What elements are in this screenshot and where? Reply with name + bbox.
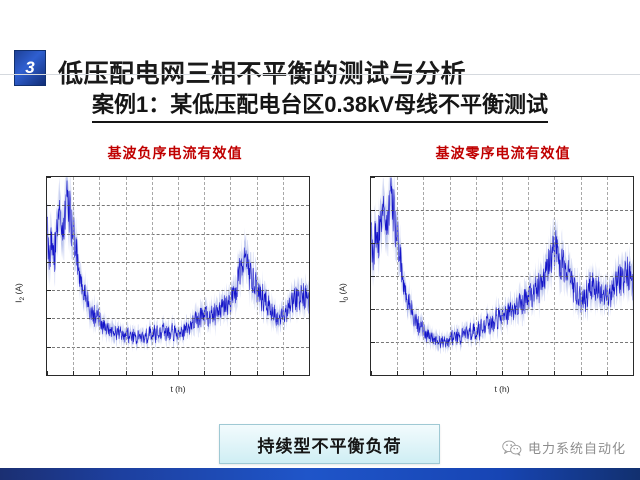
x-tick-mark [309, 371, 310, 375]
chart-panel-zero-sequence: I0 (A)I0 (A) 020406080100120024681012141… [332, 168, 640, 418]
section-number-badge: 3 [14, 50, 46, 86]
conclusion-caption: 持续型不平衡负荷 [219, 424, 440, 464]
y-tick-mark [371, 342, 375, 343]
y-tick-mark [371, 375, 375, 376]
gridline-vertical [397, 177, 398, 375]
gridline-vertical [554, 177, 555, 375]
x-tick-mark [554, 371, 555, 375]
slide: 3 低压配电网三相不平衡的测试与分析 案例1：某低压配电台区0.38kV母线不平… [0, 0, 640, 480]
wechat-icon [502, 440, 522, 456]
x-tick-mark [423, 371, 424, 375]
x-tick-mark [204, 371, 205, 375]
y-tick-mark [371, 177, 375, 178]
gridline-vertical [528, 177, 529, 375]
chart-panel-negative-sequence: I2 (A)I2 (A) 020406080100120140024681012… [8, 168, 318, 418]
gridline-vertical [230, 177, 231, 375]
gridline-vertical [152, 177, 153, 375]
y-tick-mark [371, 276, 375, 277]
x-tick-mark [607, 371, 608, 375]
gridline-vertical [257, 177, 258, 375]
y-tick-mark [47, 262, 51, 263]
y-tick-mark [47, 375, 51, 376]
gridline-vertical [204, 177, 205, 375]
watermark: 电力系统自动化 [502, 438, 626, 457]
gridline-vertical [126, 177, 127, 375]
chart-title-negative-sequence: 基波负序电流有效值 [60, 143, 290, 163]
y-axis-label-right: I0 (A)I0 (A) [338, 283, 351, 303]
y-tick-mark [371, 243, 375, 244]
x-tick-mark [528, 371, 529, 375]
gridline-vertical [99, 177, 100, 375]
gridline-vertical [607, 177, 608, 375]
x-tick-mark [257, 371, 258, 375]
y-tick-mark [371, 210, 375, 211]
subtitle: 案例1：某低压配电台区0.38kV母线不平衡测试 [0, 87, 640, 123]
watermark-label: 电力系统自动化 [528, 438, 626, 457]
x-tick-mark [99, 371, 100, 375]
gridline-vertical [502, 177, 503, 375]
y-tick-mark [371, 309, 375, 310]
x-tick-mark [371, 371, 372, 375]
x-tick-mark [178, 371, 179, 375]
y-tick-mark [47, 234, 51, 235]
x-tick-mark [633, 371, 634, 375]
chart-title-zero-sequence: 基波零序电流有效值 [388, 143, 618, 163]
footer-bar [0, 468, 640, 480]
page-title: 低压配电网三相不平衡的测试与分析 [58, 54, 466, 90]
x-tick-mark [126, 371, 127, 375]
y-tick-mark [47, 290, 51, 291]
gridline-vertical [283, 177, 284, 375]
plot-area-negative-sequence: 02040608010012014002468101214161820 [46, 176, 310, 376]
slide-header: 3 低压配电网三相不平衡的测试与分析 [0, 24, 640, 68]
x-tick-mark [152, 371, 153, 375]
y-tick-mark [47, 347, 51, 348]
y-tick-mark [47, 205, 51, 206]
y-axis-label-left: I2 (A)I2 (A) [14, 283, 27, 303]
x-tick-mark [397, 371, 398, 375]
x-axis-label-right: t (h) [370, 384, 634, 394]
gridline-vertical [450, 177, 451, 375]
x-tick-mark [283, 371, 284, 375]
gridline-vertical [423, 177, 424, 375]
x-tick-mark [476, 371, 477, 375]
x-tick-mark [450, 371, 451, 375]
x-tick-mark [581, 371, 582, 375]
x-axis-label-left: t (h) [46, 384, 310, 394]
header-divider [0, 74, 640, 75]
gridline-vertical [73, 177, 74, 375]
y-tick-mark [47, 177, 51, 178]
subtitle-text: 案例1：某低压配电台区0.38kV母线不平衡测试 [92, 87, 548, 123]
gridline-vertical [581, 177, 582, 375]
x-tick-mark [230, 371, 231, 375]
gridline-vertical [178, 177, 179, 375]
y-tick-mark [47, 318, 51, 319]
plot-area-zero-sequence: 02040608010012002468101214161820 [370, 176, 634, 376]
gridline-vertical [476, 177, 477, 375]
x-tick-mark [47, 371, 48, 375]
x-tick-mark [502, 371, 503, 375]
x-tick-mark [73, 371, 74, 375]
